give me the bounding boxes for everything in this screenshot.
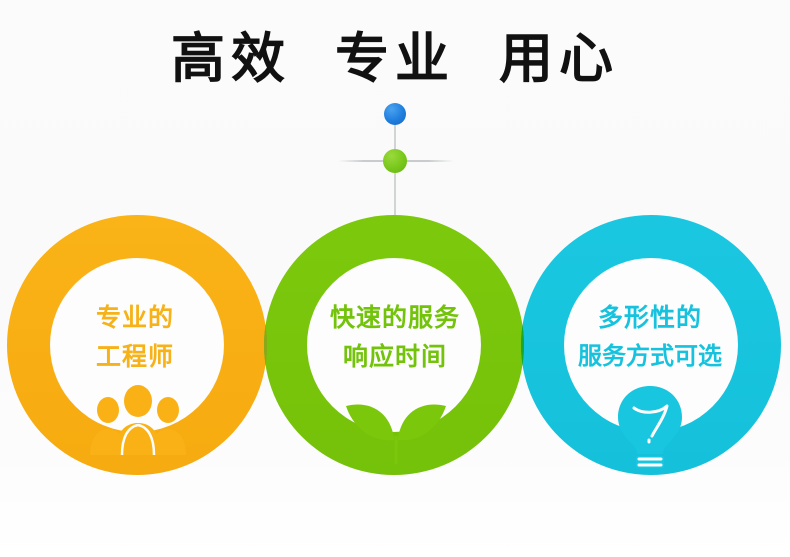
infographic-canvas: 高效专业用心 — [0, 0, 790, 557]
circle-response-time-inner — [308, 259, 480, 431]
circle-engineers-inner — [51, 259, 223, 431]
venn-diagram — [0, 0, 790, 557]
circle-service-modes-inner — [565, 259, 737, 431]
